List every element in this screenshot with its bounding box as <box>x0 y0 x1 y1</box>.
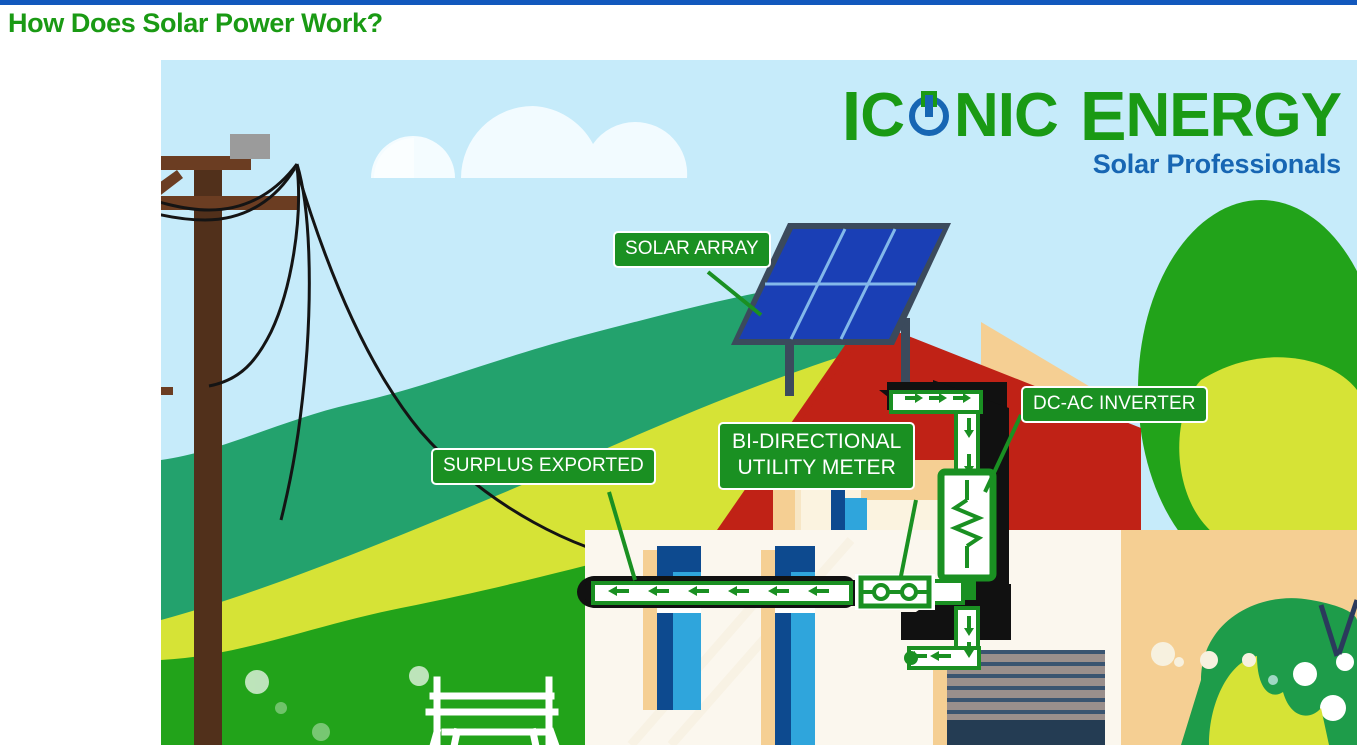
label-bidirectional-utility-meter: BI-DIRECTIONAL UTILITY METER <box>718 422 915 490</box>
label-dc-ac-inverter: DC-AC INVERTER <box>1021 386 1208 423</box>
label-surplus-exported: SURPLUS EXPORTED <box>431 448 656 485</box>
logo-letters-nergy: NERGY <box>1126 85 1341 147</box>
surplus-export-line <box>593 583 851 603</box>
transformer-box-top <box>230 134 270 159</box>
circuit-wire-roof-horizontal <box>891 392 981 412</box>
logo-letter-i: I <box>842 85 860 147</box>
bidirectional-meter-symbol <box>855 574 935 610</box>
logo-letters-nic: NIC <box>954 85 1058 147</box>
label-solar-array: SOLAR ARRAY <box>613 231 771 268</box>
logo-wordmark: IC NICENERGY <box>811 85 1341 147</box>
page-title: How Does Solar Power Work? <box>8 8 383 39</box>
label-meter-line1: BI-DIRECTIONAL <box>732 429 901 455</box>
logo-tagline: Solar Professionals <box>811 149 1341 180</box>
iconic-energy-logo: IC NICENERGY Solar Professionals <box>811 85 1341 190</box>
top-accent-bar <box>0 0 1357 5</box>
logo-letter-c: C <box>860 85 904 147</box>
label-meter-line2: UTILITY METER <box>732 455 901 481</box>
logo-letter-e: E <box>1080 85 1126 147</box>
power-symbol-icon <box>906 91 952 137</box>
facade-window-blue <box>845 498 867 530</box>
house-window-right <box>761 546 815 745</box>
house-window-left <box>643 546 701 710</box>
solar-diagram-illustration: IC NICENERGY Solar Professionals SOLAR A… <box>161 60 1357 745</box>
